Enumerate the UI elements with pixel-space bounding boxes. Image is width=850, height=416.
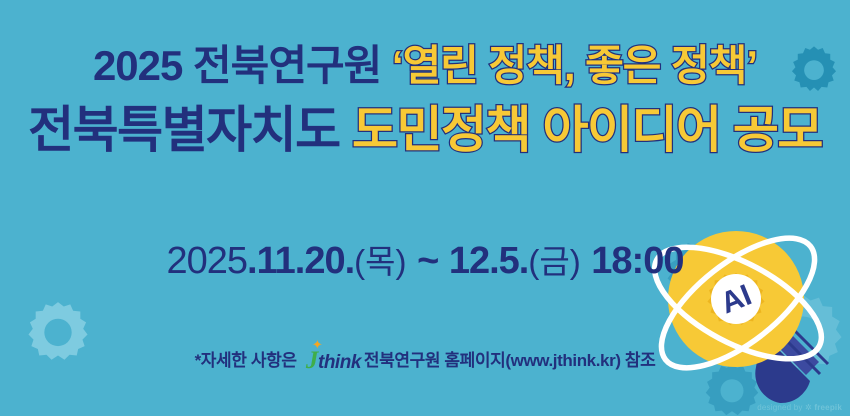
credit-brand: freepik bbox=[814, 403, 842, 412]
bulb-inner-gear bbox=[707, 273, 764, 325]
ai-lightbulb-graphic: AI bbox=[634, 207, 850, 416]
period-start-date: 11.20. bbox=[257, 240, 355, 282]
headline-block: 2025 전북연구원 ‘열린 정책, 좋은 정책’ 전북특별자치도 도민정책 아… bbox=[0, 44, 850, 157]
headline-line1-yellow: ‘열린 정책, 좋은 정책’ bbox=[392, 42, 757, 89]
freepik-mark-icon: ✲ bbox=[805, 403, 812, 412]
period-end-day: (금) bbox=[528, 243, 580, 280]
period-year: 2025 bbox=[167, 240, 248, 282]
jthink-logo-think: think bbox=[318, 352, 361, 373]
ai-badge-circle bbox=[711, 274, 761, 324]
footnote-line: *자세한 사항은 ✦Jthink전북연구원 홈페이지(www.jthink.kr… bbox=[0, 346, 850, 375]
period-start-day: (목) bbox=[354, 243, 406, 280]
period-end-time: 18:00 bbox=[591, 240, 683, 282]
period-dot: . bbox=[247, 240, 257, 282]
star-icon: ✦ bbox=[312, 338, 323, 351]
period-tilde: ~ bbox=[417, 240, 438, 282]
headline-line-1: 2025 전북연구원 ‘열린 정책, 좋은 정책’ bbox=[0, 44, 850, 88]
headline-line2-yellow: 도민정책 아이디어 공모 bbox=[352, 102, 822, 158]
credit-text: designed by bbox=[757, 403, 802, 412]
headline-line2-navy: 전북특별자치도 bbox=[28, 102, 340, 158]
jthink-logo: ✦Jthink bbox=[306, 347, 361, 375]
headline-line1-navy: 2025 전북연구원 bbox=[93, 42, 381, 89]
footnote-suffix: 홈페이지(www.jthink.kr) 참조 bbox=[444, 351, 655, 370]
footnote-prefix: *자세한 사항은 bbox=[195, 351, 297, 370]
period-end-date: 12.5. bbox=[449, 240, 529, 282]
promo-poster: AI 2025 전북연구원 ‘열린 정책, 좋은 정책’ 전북특별자치도 도민정… bbox=[0, 0, 850, 416]
event-period: 2025.11.20.(목) ~ 12.5.(금) 18:00 bbox=[0, 242, 850, 280]
footnote-org: 전북연구원 bbox=[364, 351, 440, 370]
freepik-credit: designed by ✲ freepik bbox=[757, 403, 842, 412]
ai-badge-label: AI bbox=[716, 279, 756, 321]
headline-line-2: 전북특별자치도 도민정책 아이디어 공모 bbox=[0, 104, 850, 157]
